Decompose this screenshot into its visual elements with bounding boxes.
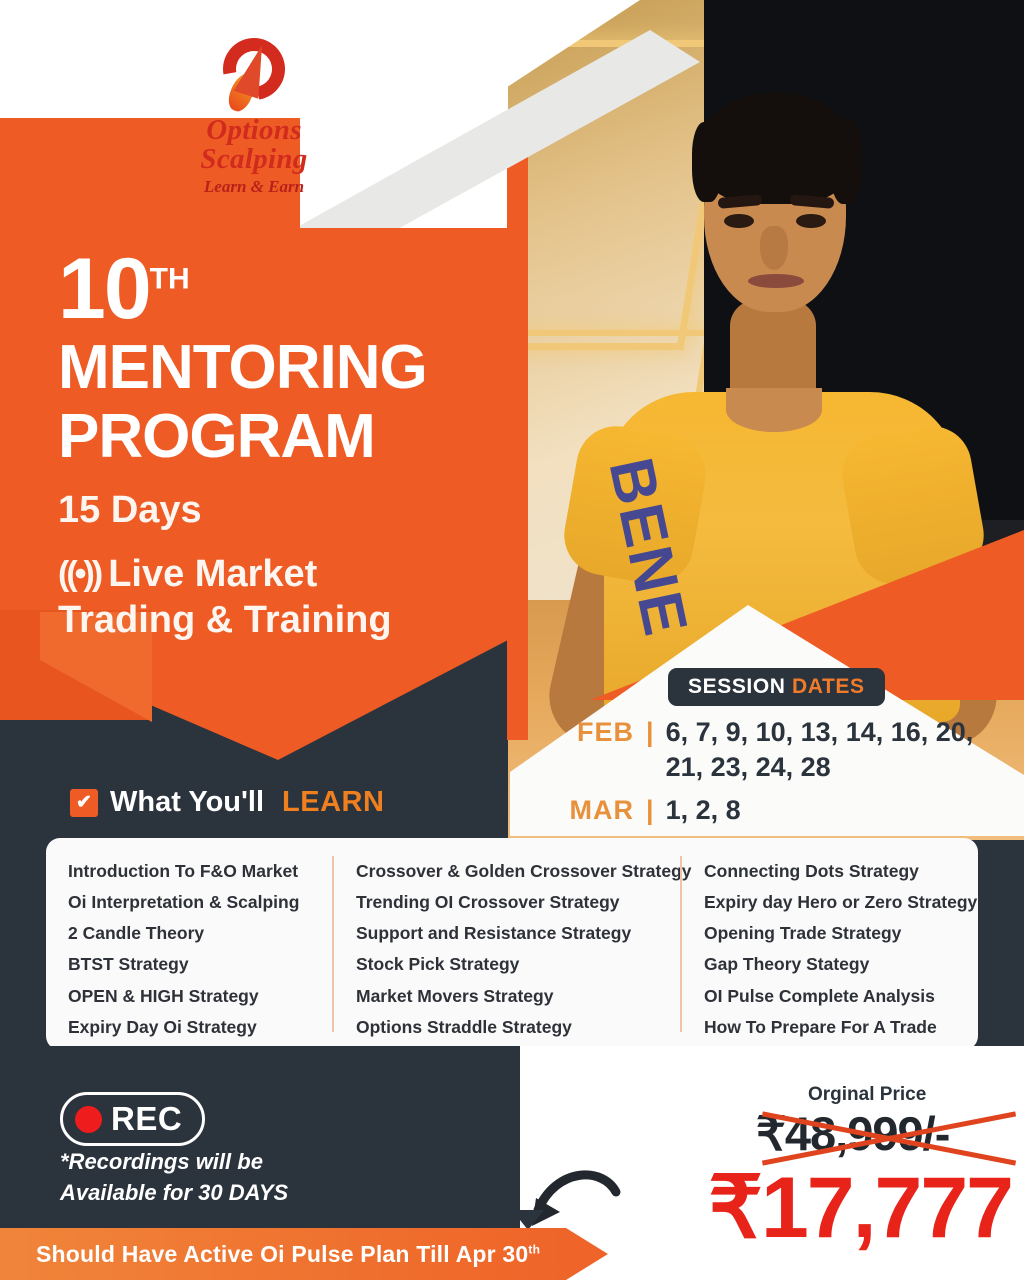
nose [760, 226, 788, 270]
list-item: Stock Pick Strategy [356, 949, 658, 980]
list-item: Opening Trade Strategy [704, 918, 956, 949]
session-badge-prefix: SESSION [688, 675, 786, 698]
brand-tagline: Learn & Earn [152, 177, 356, 197]
session-days: 1, 2, 8 [666, 793, 741, 828]
session-badge-highlight: DATES [792, 675, 865, 698]
learn-heading-plain: What You'll [110, 786, 264, 819]
session-dates-badge: SESSION DATES [668, 668, 885, 706]
curriculum-column-2: Crossover & Golden Crossover Strategy Tr… [332, 856, 680, 1032]
eye-right [796, 214, 826, 228]
list-item: 2 Candle Theory [68, 918, 310, 949]
banner-superscript: th [528, 1242, 540, 1256]
curriculum-column-1: Introduction To F&O Market Oi Interpreta… [46, 856, 332, 1032]
session-separator: | [646, 715, 654, 750]
list-item: Crossover & Golden Crossover Strategy [356, 856, 658, 887]
banner-text: Should Have Active Oi Pulse Plan Till Ap… [36, 1241, 540, 1268]
list-item: How To Prepare For A Trade [704, 1012, 956, 1043]
session-days: 6, 7, 9, 10, 13, 14, 16, 20, 21, 23, 24,… [666, 715, 996, 784]
curriculum-column-3: Connecting Dots Strategy Expiry day Hero… [680, 856, 978, 1032]
list-item: Options Straddle Strategy [356, 1012, 658, 1043]
session-row-mar: MAR | 1, 2, 8 [556, 793, 996, 828]
recording-note-line2: Available for 30 DAYS [60, 1177, 390, 1208]
broadcast-icon: ((•)) [58, 555, 100, 594]
recording-note: *Recordings will be Available for 30 DAY… [60, 1146, 390, 1208]
checkmark-icon: ✔ [70, 789, 98, 817]
edition-number: 10 [58, 241, 150, 337]
session-month: MAR [556, 793, 634, 828]
recording-note-plain: Available for [60, 1180, 198, 1205]
edition-suffix: TH [150, 262, 190, 295]
list-item: Expiry day Hero or Zero Strategy [704, 887, 956, 918]
brand-name: Options Scalping [152, 116, 356, 174]
live-market-row: ((•)) Live Market [58, 551, 498, 597]
promo-poster: BENE Options Scalping Le [0, 0, 1024, 1280]
recording-note-bold: 30 DAYS [198, 1180, 288, 1205]
recording-note-line1: *Recordings will be [60, 1146, 390, 1177]
banner-pointer-icon [512, 1210, 544, 1230]
list-item: Connecting Dots Strategy [704, 856, 956, 887]
bottom-banner: Should Have Active Oi Pulse Plan Till Ap… [0, 1228, 1024, 1280]
list-item: OPEN & HIGH Strategy [68, 981, 310, 1012]
list-item: Gap Theory Stategy [704, 949, 956, 980]
collar [726, 388, 822, 432]
list-item: Trending OI Crossover Strategy [356, 887, 658, 918]
list-item: Oi Interpretation & Scalping [68, 887, 310, 918]
duration-text: 15 Days [58, 487, 498, 533]
headline-line2: PROGRAM [58, 404, 498, 469]
learn-heading-highlight: LEARN [282, 786, 384, 819]
edition-heading: 10TH [58, 248, 498, 331]
eye-left [724, 214, 754, 228]
hair [698, 92, 854, 204]
rec-badge: REC [60, 1092, 205, 1146]
session-separator: | [646, 793, 654, 828]
session-month: FEB [556, 715, 634, 750]
what-you-learn-heading: ✔ What You'll LEARN [70, 786, 384, 819]
rec-label: REC [111, 1100, 182, 1138]
list-item: OI Pulse Complete Analysis [704, 981, 956, 1012]
session-row-feb: FEB | 6, 7, 9, 10, 13, 14, 16, 20, 21, 2… [556, 715, 996, 784]
arrow-circle-logo-icon [211, 38, 297, 114]
list-item: Support and Resistance Strategy [356, 918, 658, 949]
record-dot-icon [75, 1106, 102, 1133]
list-item: Expiry Day Oi Strategy [68, 1012, 310, 1043]
list-item: Introduction To F&O Market [68, 856, 310, 887]
headline-line1: MENTORING [58, 335, 498, 400]
session-dates-block: SESSION DATES FEB | 6, 7, 9, 10, 13, 14,… [556, 668, 996, 828]
banner-main-text: Should Have Active Oi Pulse Plan Till Ap… [36, 1241, 528, 1267]
original-price-label: Orginal Price [808, 1084, 926, 1106]
mouth [748, 274, 804, 288]
curriculum-card: Introduction To F&O Market Oi Interpreta… [46, 838, 978, 1050]
headline-block: 10TH MENTORING PROGRAM 15 Days ((•)) Liv… [58, 248, 498, 644]
list-item: BTST Strategy [68, 949, 310, 980]
training-text: Trading & Training [58, 597, 498, 643]
brand-logo[interactable]: Options Scalping Learn & Earn [152, 38, 356, 166]
list-item: Market Movers Strategy [356, 981, 658, 1012]
live-market-text: Live Market [108, 551, 317, 597]
